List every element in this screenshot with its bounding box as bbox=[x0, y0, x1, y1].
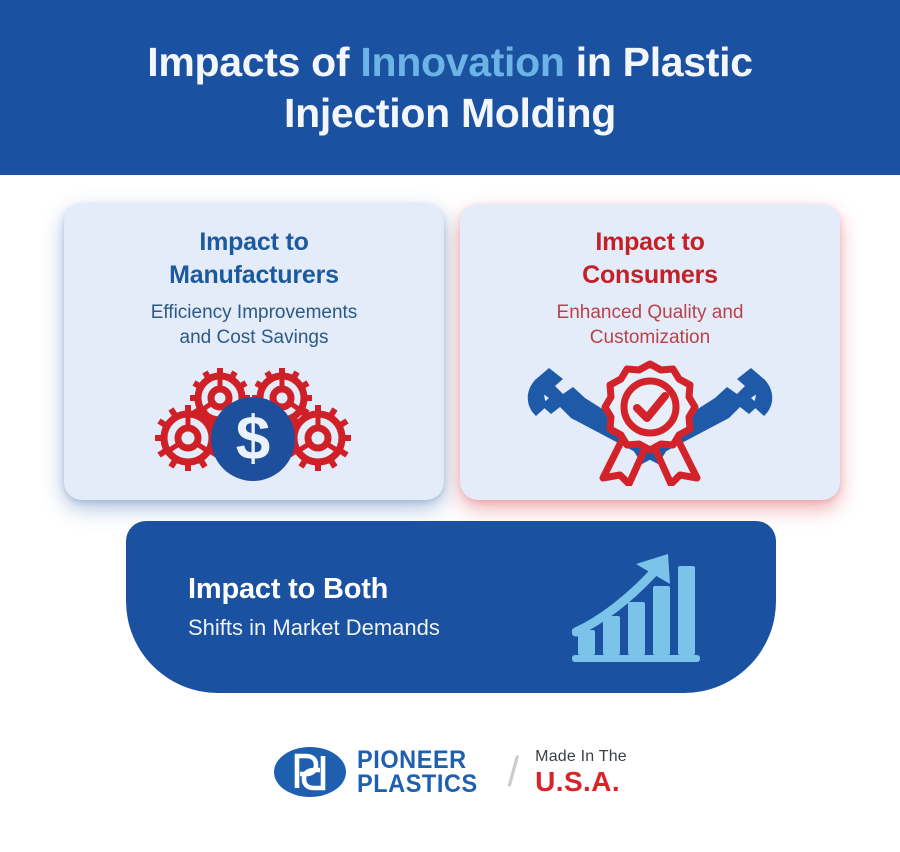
card-consumers-subtitle: Enhanced Quality and Customization bbox=[460, 300, 840, 350]
infographic-page: Impacts of Innovation in Plastic Injecti… bbox=[0, 0, 900, 852]
card-manufacturers-subtitle-line1: Efficiency Improvements bbox=[151, 302, 358, 323]
title-segment-2: in Plastic bbox=[565, 39, 753, 85]
card-both-heading: Impact to Both bbox=[188, 573, 572, 606]
card-manufacturers-heading-line2: Manufacturers bbox=[169, 261, 339, 289]
growth-bar-chart-arrow-icon-wrap bbox=[572, 546, 776, 668]
pioneer-pp-oval-logo-icon bbox=[273, 744, 347, 800]
wrenches-award-ribbon-icon-wrap bbox=[460, 358, 840, 486]
card-manufacturers-heading-line1: Impact to bbox=[199, 228, 308, 256]
brand-line-1: PIONEER bbox=[357, 746, 467, 774]
card-consumers-subtitle-line2: Customization bbox=[590, 327, 710, 348]
title-segment-1: Impacts of bbox=[147, 39, 360, 85]
made-in-country: U.S.A. bbox=[535, 768, 627, 796]
chart-bars bbox=[572, 566, 700, 662]
card-consumers-heading-line1: Impact to bbox=[595, 228, 704, 256]
page-title: Impacts of Innovation in Plastic Injecti… bbox=[70, 37, 830, 137]
card-impact-to-both: Impact to Both Shifts in Market Demands bbox=[126, 521, 776, 693]
title-accent-innovation: Innovation bbox=[360, 39, 564, 85]
card-manufacturers-subtitle-line2: and Cost Savings bbox=[180, 327, 329, 348]
card-manufacturers-subtitle: Efficiency Improvements and Cost Savings bbox=[64, 300, 444, 350]
made-in-usa-badge: Made In The U.S.A. bbox=[535, 749, 627, 796]
made-in-label: Made In The bbox=[535, 749, 627, 765]
footer-logo-lockup: PIONEER PLASTICS / Made In The U.S.A. bbox=[0, 744, 900, 800]
wrenches-award-ribbon-icon bbox=[519, 358, 781, 486]
title-line-2: Injection Molding bbox=[284, 90, 616, 136]
card-consumers-subtitle-line1: Enhanced Quality and bbox=[557, 302, 744, 323]
card-impact-to-manufacturers: Impact to Manufacturers Efficiency Impro… bbox=[64, 204, 444, 500]
card-manufacturers-heading: Impact to Manufacturers bbox=[64, 226, 444, 293]
pioneer-plastics-wordmark: PIONEER PLASTICS bbox=[357, 748, 478, 797]
logo-divider: / bbox=[508, 751, 520, 793]
gears-dollar-icon: $ bbox=[150, 360, 358, 486]
brand-line-2: PLASTICS bbox=[357, 772, 478, 797]
dollar-glyph: $ bbox=[236, 405, 270, 474]
award-rosette-icon bbox=[605, 364, 695, 450]
header-banner: Impacts of Innovation in Plastic Injecti… bbox=[0, 0, 900, 175]
card-consumers-heading: Impact to Consumers bbox=[460, 226, 840, 293]
gears-dollar-icon-wrap: $ bbox=[64, 360, 444, 486]
card-consumers-heading-line2: Consumers bbox=[582, 261, 718, 289]
card-impact-to-consumers: Impact to Consumers Enhanced Quality and… bbox=[460, 204, 840, 500]
card-both-subtitle: Shifts in Market Demands bbox=[188, 615, 572, 641]
growth-bar-chart-arrow-icon bbox=[572, 546, 704, 668]
